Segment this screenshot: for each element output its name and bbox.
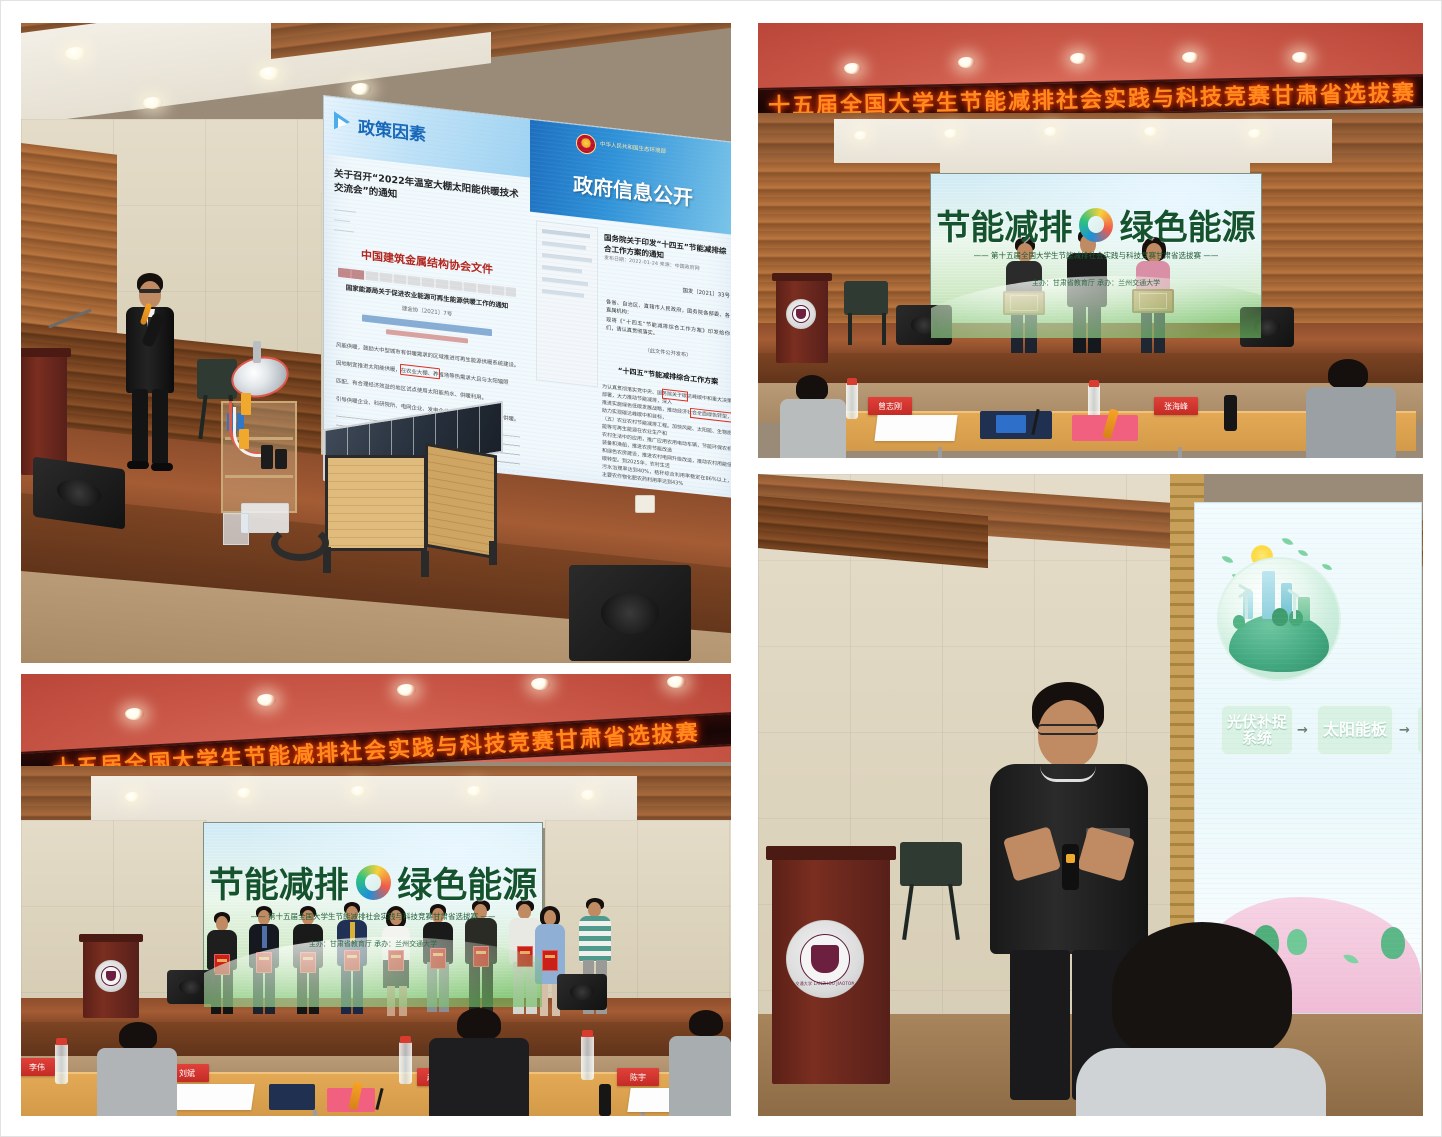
- photo-presentation-solar-greenhouse[interactable]: 政策因素 关于召开“2022年温室大棚太阳能供暖技术交流会”的通知 中国建筑金属…: [21, 23, 731, 663]
- judge-nameplate: 陈宇: [617, 1068, 659, 1086]
- gov-doc-number: 国发〔2021〕33号: [650, 283, 730, 300]
- ceiling-downlight: [65, 47, 87, 60]
- seated-judge: [429, 1008, 529, 1116]
- gov-seal-line: （此文件公开发布）: [606, 342, 730, 364]
- green-earth-illustration: [1217, 557, 1341, 681]
- led-title-right: 绿色能源: [397, 857, 537, 908]
- thermos-cup: [599, 1084, 611, 1116]
- ceiling-downlight: [257, 694, 276, 706]
- judge-nameplate: 李伟: [21, 1058, 55, 1076]
- stage-monitor-speaker: [557, 974, 607, 1010]
- stage-led-screen: 节能减排 绿色能源 —— 第十五届全国大学生节能减排社会实践与科技竞赛甘肃省选拔…: [930, 173, 1262, 339]
- wall-outlet: [635, 495, 655, 513]
- led-screen-subtitle: —— 第十五届全国大学生节能减排社会实践与科技竞赛甘肃省选拔赛 ——: [931, 250, 1261, 261]
- photo-student-presenting[interactable]: 光伏补捉系统 → 太阳能板 → 蓄电 兰州交通大学 LANZHOU JIAOTO…: [758, 474, 1423, 1116]
- ceiling-downlight: [237, 788, 252, 798]
- ceiling-downlight: [351, 83, 371, 95]
- judge-nameplate: 曾志刚: [868, 397, 912, 415]
- led-screen-organizers: 主办：甘肃省教育厅 承办：兰州交通大学: [931, 278, 1261, 288]
- score-sheet: [167, 1084, 255, 1110]
- seated-judge: [669, 1010, 731, 1116]
- judge-nameplate: 张海峰: [1154, 397, 1198, 415]
- solar-greenhouse-model: [317, 415, 513, 575]
- glasses-icon: [1038, 724, 1098, 735]
- ceiling-downlight: [143, 97, 163, 109]
- flow-step-2: 太阳能板: [1317, 705, 1393, 755]
- ceiling-downlight: [1182, 52, 1199, 63]
- seated-judge: [1306, 359, 1396, 458]
- sun-icon: [1251, 545, 1273, 567]
- thermos-cup: [1224, 395, 1237, 431]
- ceiling-downlight: [844, 63, 861, 74]
- award-certificate: [542, 950, 558, 971]
- led-screen-subtitle: —— 第十五届全国大学生节能减排社会实践与科技竞赛甘肃省选拔赛 ——: [204, 911, 542, 922]
- leaf-icon: [1232, 572, 1242, 582]
- university-seal-label: 兰州交通大学 LANZHOU JIAOTONG UNIVERSITY: [787, 981, 863, 987]
- folding-chair: [844, 281, 888, 315]
- folding-chair: [900, 842, 962, 886]
- water-bottle: [399, 1042, 412, 1084]
- ceiling-downlight: [944, 129, 958, 138]
- rainbow-ring-logo-icon: [356, 865, 391, 900]
- leaf-icon: [1222, 554, 1234, 566]
- led-title-left: 节能减排: [936, 200, 1072, 249]
- wood-model-front: [325, 455, 427, 551]
- ceiling-downlight: [397, 684, 416, 696]
- photo-collage: 政策因素 关于召开“2022年温室大棚太阳能供暖技术交流会”的通知 中国建筑金属…: [0, 0, 1442, 1137]
- slide-hero-label: 政策因素: [358, 113, 426, 146]
- slide-government-disclosure: 中华人民共和国生态环境部 政府信息公开 国务院关于印发“十四五”节能减排综合工作…: [530, 120, 731, 504]
- flow-step-1: 光伏补捉系统: [1221, 705, 1293, 755]
- university-seal-icon: [786, 299, 816, 329]
- led-screen-title: 节能减排 绿色能源: [204, 857, 542, 908]
- ceiling-downlight: [667, 676, 686, 688]
- led-screen-title: 节能减排 绿色能源: [931, 200, 1261, 249]
- presenter-clicker: [1062, 844, 1079, 890]
- ceiling-downlight: [1248, 129, 1262, 138]
- water-bottle: [581, 1036, 594, 1080]
- stage-led-screen: 节能减排 绿色能源 —— 第十五届全国大学生节能减排社会实践与科技竞赛甘肃省选拔…: [203, 822, 543, 1008]
- flow-arrow-icon: →: [1399, 723, 1410, 738]
- ceiling-downlight: [125, 792, 140, 802]
- leaf-icon: [1298, 548, 1308, 558]
- ceiling-downlight: [581, 790, 596, 800]
- flow-arrow-icon: →: [1297, 723, 1308, 738]
- ceiling-downlight: [958, 57, 975, 68]
- led-screen-organizers: 主办：甘肃省教育厅 承办：兰州交通大学: [204, 939, 542, 949]
- ceiling-downlight: [1144, 127, 1158, 136]
- policy-highlight: [400, 364, 440, 380]
- led-title-left: 节能减排: [209, 857, 349, 908]
- university-seal-icon: 兰州交通大学 LANZHOU JIAOTONG UNIVERSITY: [786, 920, 864, 998]
- ceiling-downlight: [125, 708, 144, 720]
- stage-monitor-speaker: [569, 565, 691, 661]
- presenter-person: [119, 273, 183, 473]
- notebook: [269, 1084, 315, 1110]
- notice-title: 关于召开“2022年温室大棚太阳能供暖技术交流会”的通知: [334, 167, 522, 216]
- score-sheet: [874, 415, 957, 441]
- ceiling-downlight: [259, 67, 281, 80]
- ceiling-downlight: [854, 131, 868, 140]
- foreground-audience: [1076, 922, 1326, 1116]
- ceiling-downlight: [467, 786, 482, 796]
- water-bottle: [55, 1044, 68, 1084]
- flow-step-3: 蓄电: [1417, 705, 1422, 755]
- led-title-right: 绿色能源: [1120, 200, 1256, 249]
- ceiling-downlight: [351, 786, 366, 796]
- podium: [21, 353, 67, 475]
- stage-monitor-speaker: [33, 457, 125, 530]
- solar-concentrator-exhibit: [217, 353, 307, 543]
- ministry-name: 中华人民共和国生态环境部: [600, 140, 730, 163]
- gov-hero-label: 政府信息公开: [530, 164, 731, 216]
- ceiling-downlight: [1044, 127, 1058, 136]
- seated-judge: [97, 1022, 177, 1116]
- leaf-icon: [1322, 562, 1332, 572]
- photo-award-plaques[interactable]: 十五届全国大学生节能减排社会实践与科技竞赛甘肃省选拔赛 节能减排 绿色能源 ——…: [758, 23, 1423, 458]
- glasses-icon: [139, 289, 161, 293]
- leaf-icon: [1282, 536, 1294, 548]
- national-emblem-icon: [576, 133, 596, 155]
- photo-group-award[interactable]: 十五届全国大学生节能减排社会实践与科技竞赛甘肃省选拔赛 节能减排 绿色能源 ——…: [21, 674, 731, 1116]
- seated-judge: [778, 375, 848, 458]
- ceiling-downlight: [1070, 53, 1087, 64]
- sprout-icon: [1343, 951, 1358, 966]
- university-seal-icon: [95, 960, 127, 992]
- tree-icon: [1381, 927, 1405, 959]
- ceiling-downlight: [1292, 52, 1309, 63]
- ceiling-downlight: [531, 678, 550, 690]
- rainbow-ring-logo-icon: [1079, 208, 1113, 242]
- wood-model-side: [425, 443, 497, 560]
